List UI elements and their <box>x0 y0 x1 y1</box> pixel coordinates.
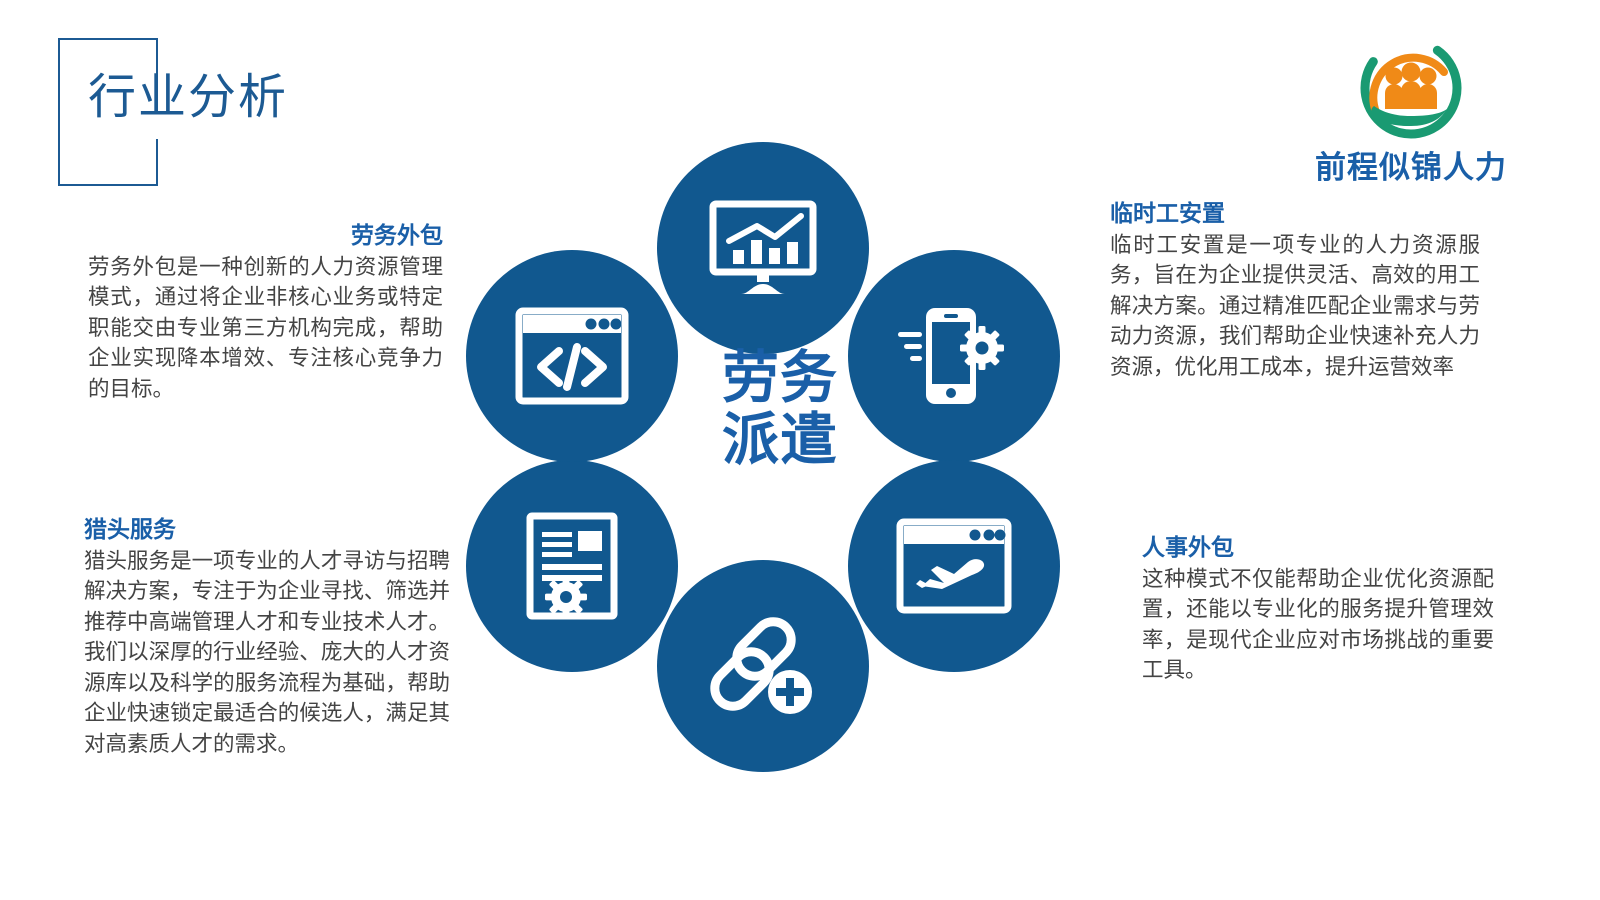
center-label-line-2: 派遣 <box>678 410 882 472</box>
smartphone-gear-icon <box>896 304 1012 408</box>
page-title: 行业分析 <box>88 74 288 122</box>
block-body: 猎头服务是一项专业的人才寻访与招聘解决方案，专注于为企业寻找、筛选并推荐中高端管… <box>84 546 450 760</box>
service-circle-diagram: 劳务 派遣 <box>440 120 1120 760</box>
browser-code-icon <box>515 307 629 405</box>
document-gear-icon <box>526 512 618 620</box>
block-heading: 猎头服务 <box>84 516 450 544</box>
diagram-node-browser-airplane[interactable] <box>848 460 1060 672</box>
people-in-hand-circle-logo-icon <box>1352 36 1470 140</box>
browser-airplane-icon <box>896 518 1012 614</box>
logo-company-name: 前程似锦人力 <box>1300 142 1522 187</box>
info-block-temporary-worker-placement: 临时工安置 临时工安置是一项专业的人力资源服务，旨在为企业提供灵活、高效的用工解… <box>1110 200 1480 382</box>
block-heading: 人事外包 <box>1142 534 1494 562</box>
chain-link-plus-icon <box>708 614 818 718</box>
diagram-node-link-add[interactable] <box>657 560 869 772</box>
monitor-bar-chart-icon <box>709 198 817 298</box>
block-body: 劳务外包是一种创新的人力资源管理模式，通过将企业非核心业务或特定职能交由专业第三… <box>88 252 443 405</box>
diagram-node-browser-code[interactable] <box>466 250 678 462</box>
info-block-headhunting: 猎头服务 猎头服务是一项专业的人才寻访与招聘解决方案，专注于为企业寻找、筛选并推… <box>84 516 450 759</box>
center-label-line-1: 劳务 <box>678 348 882 410</box>
block-body: 这种模式不仅能帮助企业优化资源配置，还能以专业化的服务提升管理效率，是现代企业应… <box>1142 564 1494 686</box>
diagram-node-monitor-chart[interactable] <box>657 142 869 354</box>
info-block-hr-outsourcing: 人事外包 这种模式不仅能帮助企业优化资源配置，还能以专业化的服务提升管理效率，是… <box>1142 534 1494 686</box>
block-heading: 临时工安置 <box>1110 200 1480 228</box>
info-block-labor-outsourcing: 劳务外包 劳务外包是一种创新的人力资源管理模式，通过将企业非核心业务或特定职能交… <box>88 222 443 404</box>
block-body: 临时工安置是一项专业的人力资源服务，旨在为企业提供灵活、高效的用工解决方案。通过… <box>1110 230 1480 383</box>
diagram-node-document-gear[interactable] <box>466 460 678 672</box>
company-logo: 前程似锦人力 <box>1300 36 1522 187</box>
diagram-center-label: 劳务 派遣 <box>678 348 882 471</box>
block-heading: 劳务外包 <box>88 222 443 250</box>
